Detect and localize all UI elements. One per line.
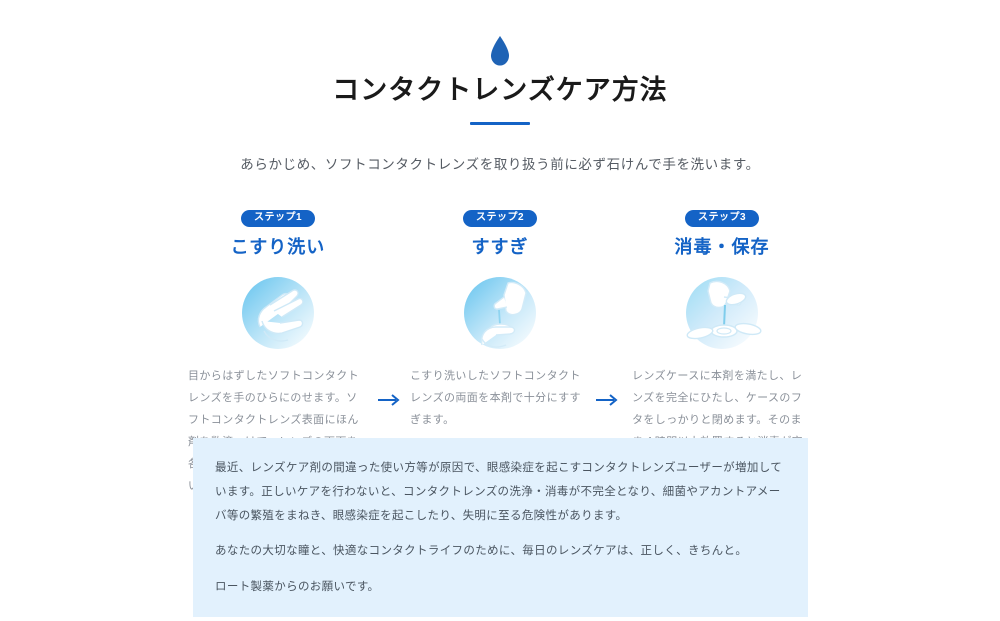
bottle-rinsing-lens-icon [452,269,548,357]
step-2: ステップ2 すすぎ [410,207,590,431]
hands-rubbing-lens-icon [230,269,326,357]
notice-paragraph-2: あなたの大切な瞳と、快適なコンタクトライフのために、毎日のレンズケアは、正しく、… [215,539,784,563]
page-header: コンタクトレンズケア方法 あらかじめ、ソフトコンタクトレンズを取り扱う前に必ず石… [0,0,1000,173]
step-1-title: こすり洗い [188,233,368,259]
step-3-badge: ステップ3 [685,210,759,227]
step-3-badge-wrap: ステップ3 [632,207,812,227]
title-underline [470,122,530,125]
page-title: コンタクトレンズケア方法 [0,74,1000,108]
lead-text: あらかじめ、ソフトコンタクトレンズを取り扱う前に必ず石けんで手を洗います。 [0,153,1000,173]
arrow-step1-to-step2 [378,393,404,407]
step-3-illustration [632,267,812,359]
step-2-badge: ステップ2 [463,210,537,227]
notice-paragraph-1: 最近、レンズケア剤の間違った使い方等が原因で、眼感染症を起こすコンタクトレンズユ… [215,456,784,528]
step-1-badge: ステップ1 [241,210,315,227]
arrow-step2-to-step3 [596,393,622,407]
water-drop-icon [489,36,511,66]
notice-box: 最近、レンズケア剤の間違った使い方等が原因で、眼感染症を起こすコンタクトレンズユ… [193,438,808,617]
notice-paragraph-3: ロート製薬からのお願いです。 [215,575,784,599]
care-instructions-page: コンタクトレンズケア方法 あらかじめ、ソフトコンタクトレンズを取り扱う前に必ず石… [0,0,1000,621]
step-2-title: すすぎ [410,233,590,259]
step-3-title: 消毒・保存 [632,233,812,259]
lens-case-filling-icon [674,269,770,357]
step-1-badge-wrap: ステップ1 [188,207,368,227]
step-2-body: こすり洗いしたソフトコンタクトレンズの両面を本剤で十分にすすぎます。 [410,365,590,431]
step-2-badge-wrap: ステップ2 [410,207,590,227]
step-2-illustration [410,267,590,359]
step-1-illustration [188,267,368,359]
